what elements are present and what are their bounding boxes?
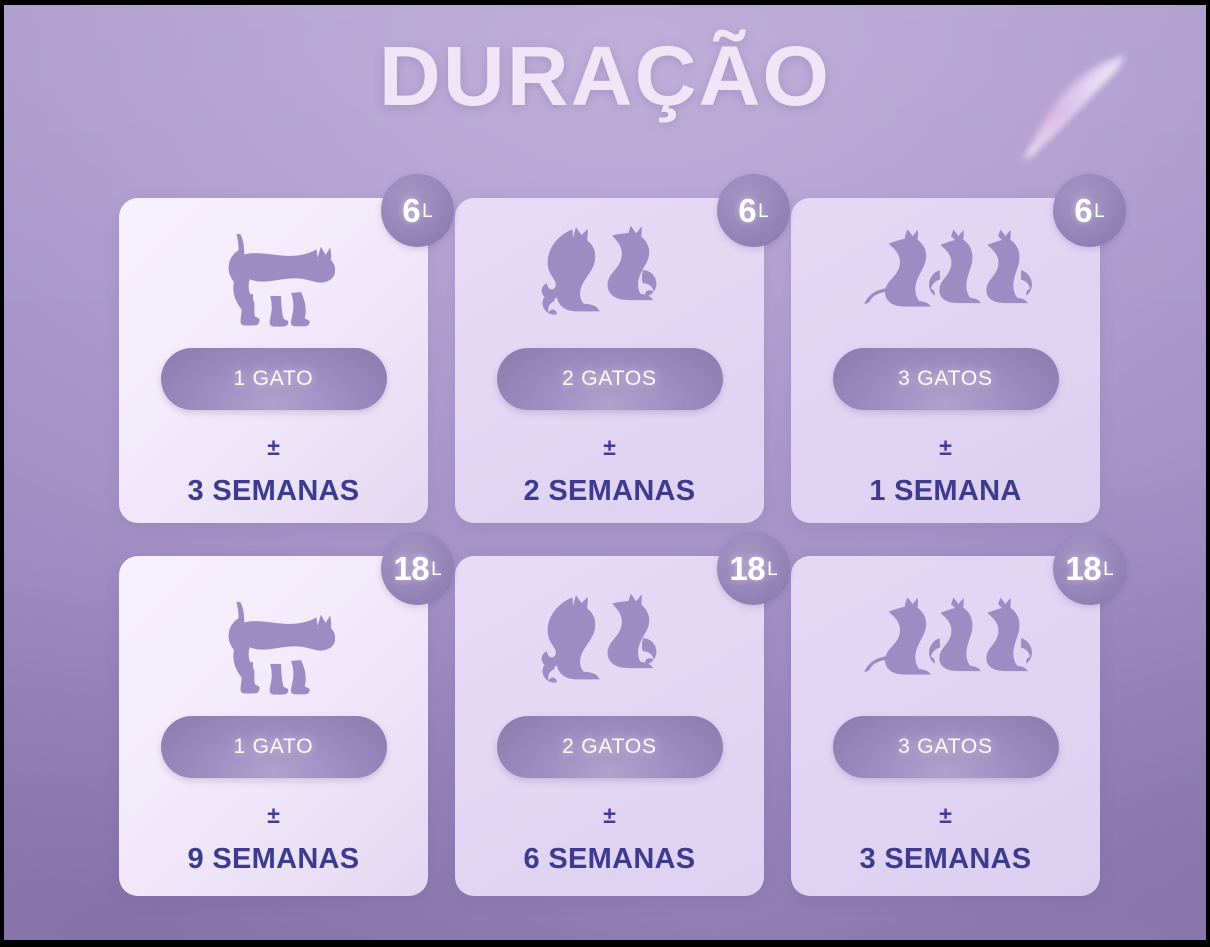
three-sitting-cats-icon (791, 580, 1100, 702)
card-18l-3-gatos[interactable]: 18 L 3 GATOS ± 3 SEMANAS (791, 556, 1100, 896)
one-walking-cat-icon (119, 222, 428, 334)
cat-count-pill[interactable]: 2 GATOS (497, 348, 723, 410)
badge-number: 6 (1074, 194, 1092, 227)
two-sitting-cats-icon (455, 222, 764, 334)
card-6l-2-gatos[interactable]: 6 L 2 G (455, 198, 764, 523)
plus-minus-symbol: ± (939, 804, 952, 827)
card-6l-3-gatos[interactable]: 6 L (791, 198, 1100, 523)
cat-count-pill[interactable]: 2 GATOS (497, 716, 723, 778)
badge-unit: L (758, 202, 769, 221)
volume-badge: 6 L (1053, 174, 1126, 247)
pill-label: 3 GATOS (898, 735, 993, 759)
badge-number: 6 (738, 194, 756, 227)
cards-grid: 6 L 1 GATO ± 3 SEMANA (119, 198, 1100, 898)
card-18l-1-gato[interactable]: 18 L 1 GATO ± 9 SEMANAS (119, 556, 428, 896)
badge-number: 18 (729, 552, 765, 585)
badge-number: 6 (402, 194, 420, 227)
duration-text: 6 SEMANAS (524, 845, 696, 874)
volume-badge: 6 L (381, 174, 454, 247)
cat-count-pill[interactable]: 3 GATOS (833, 348, 1059, 410)
badge-unit: L (431, 560, 442, 579)
duration-text: 2 SEMANAS (524, 477, 696, 506)
badge-unit: L (1103, 560, 1114, 579)
volume-badge: 18 L (717, 532, 790, 605)
duration-text: 3 SEMANAS (860, 845, 1032, 874)
plus-minus-symbol: ± (603, 436, 616, 459)
badge-number: 18 (393, 552, 429, 585)
badge-unit: L (422, 202, 433, 221)
cat-count-pill[interactable]: 3 GATOS (833, 716, 1059, 778)
badge-number: 18 (1065, 552, 1101, 585)
two-sitting-cats-icon (455, 580, 764, 702)
three-sitting-cats-icon (791, 222, 1100, 334)
volume-badge: 6 L (717, 174, 790, 247)
one-walking-cat-icon (119, 580, 428, 702)
cat-count-pill[interactable]: 1 GATO (161, 348, 387, 410)
duration-text: 9 SEMANAS (188, 845, 360, 874)
infographic-stage: DURAÇÃO 6 L (0, 0, 1210, 947)
plus-minus-symbol: ± (267, 804, 280, 827)
card-18l-2-gatos[interactable]: 18 L 2 GATOS ± 6 SEMANAS (455, 556, 764, 896)
badge-unit: L (767, 560, 778, 579)
plus-minus-symbol: ± (603, 804, 616, 827)
pill-label: 3 GATOS (898, 367, 993, 391)
duration-text: 3 SEMANAS (188, 477, 360, 506)
pill-label: 1 GATO (234, 367, 314, 391)
plus-minus-symbol: ± (939, 436, 952, 459)
volume-badge: 18 L (381, 532, 454, 605)
plus-minus-symbol: ± (267, 436, 280, 459)
duration-text: 1 SEMANA (869, 477, 1021, 506)
pill-label: 2 GATOS (562, 367, 657, 391)
pill-label: 2 GATOS (562, 735, 657, 759)
card-6l-1-gato[interactable]: 6 L 1 GATO ± 3 SEMANA (119, 198, 428, 523)
pill-label: 1 GATO (234, 735, 314, 759)
page-title: DURAÇÃO (0, 34, 1210, 118)
cat-count-pill[interactable]: 1 GATO (161, 716, 387, 778)
badge-unit: L (1094, 202, 1105, 221)
volume-badge: 18 L (1053, 532, 1126, 605)
